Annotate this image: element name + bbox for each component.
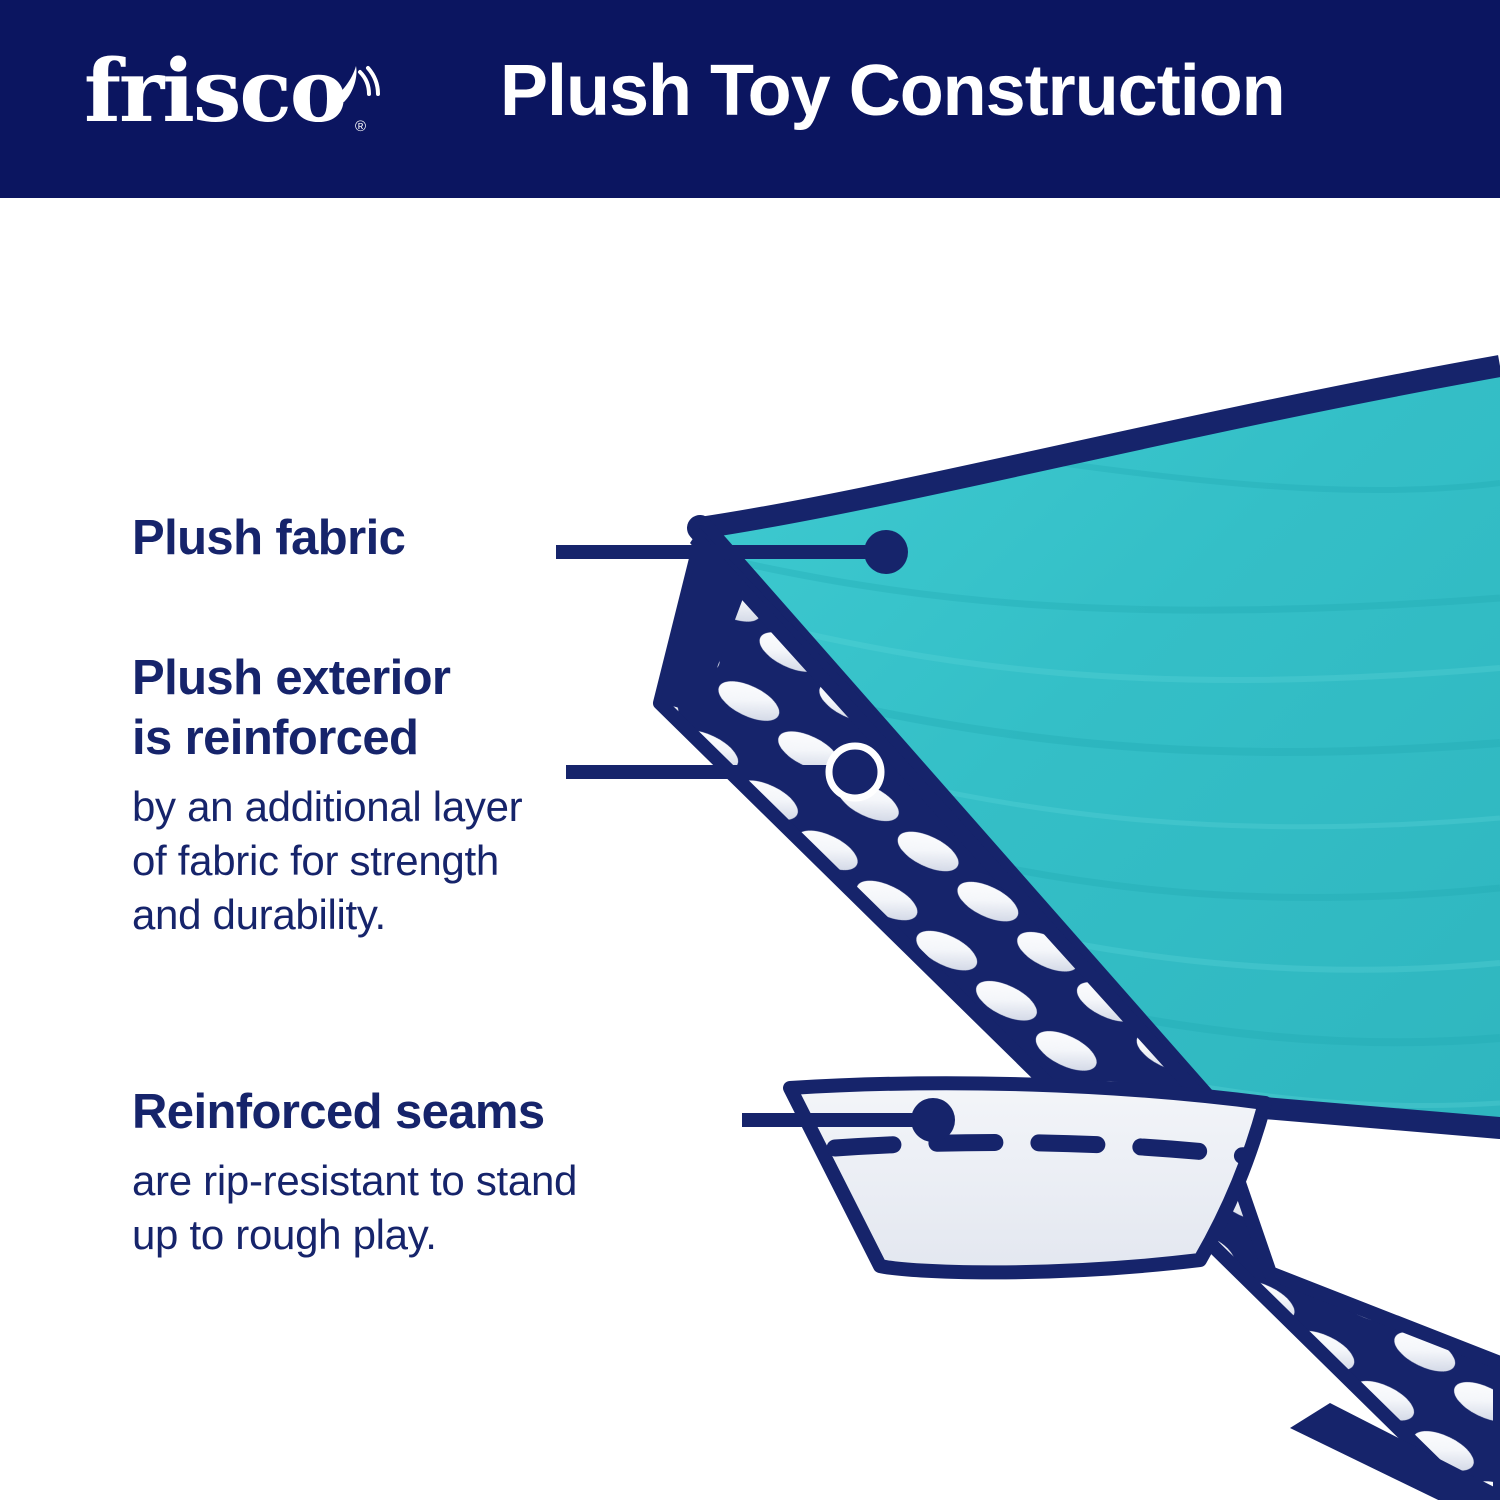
callout-plush-exterior-body-line-2: of fabric for strength bbox=[132, 834, 522, 888]
frisco-logo: frisco ® bbox=[84, 42, 384, 154]
brand-wordmark: frisco bbox=[84, 42, 384, 142]
callout-plush-exterior: Plush exterior is reinforced by an addit… bbox=[132, 648, 522, 942]
page-title: Plush Toy Construction bbox=[500, 50, 1400, 132]
infographic-page: frisco ® Plush Toy Construction bbox=[0, 0, 1500, 1500]
callout-plush-exterior-body-line-1: by an additional layer bbox=[132, 780, 522, 834]
callout-plush-exterior-body-line-3: and durability. bbox=[132, 888, 522, 942]
callout-plush-exterior-headline-line-2: is reinforced bbox=[132, 708, 522, 768]
callout-reinforced-seams-body-line-2: up to rough play. bbox=[132, 1208, 577, 1262]
marker-dot-plush-exterior bbox=[829, 746, 881, 798]
reinforced-seam-flap bbox=[790, 1083, 1265, 1272]
callout-reinforced-seams-headline: Reinforced seams bbox=[132, 1082, 577, 1142]
marker-dot-reinforced-seams bbox=[911, 1098, 955, 1142]
header-bar: frisco ® Plush Toy Construction bbox=[0, 0, 1500, 198]
callout-plush-fabric-headline: Plush fabric bbox=[132, 508, 405, 568]
callout-plush-fabric: Plush fabric bbox=[132, 508, 405, 568]
callout-reinforced-seams: Reinforced seams are rip-resistant to st… bbox=[132, 1082, 577, 1262]
seam-flap-shape bbox=[790, 1083, 1265, 1272]
callout-plush-exterior-headline-line-1: Plush exterior bbox=[132, 648, 522, 708]
callout-reinforced-seams-body-line-1: are rip-resistant to stand bbox=[132, 1154, 577, 1208]
marker-dot-plush-fabric bbox=[864, 530, 908, 574]
registered-trademark-mark: ® bbox=[355, 118, 366, 135]
